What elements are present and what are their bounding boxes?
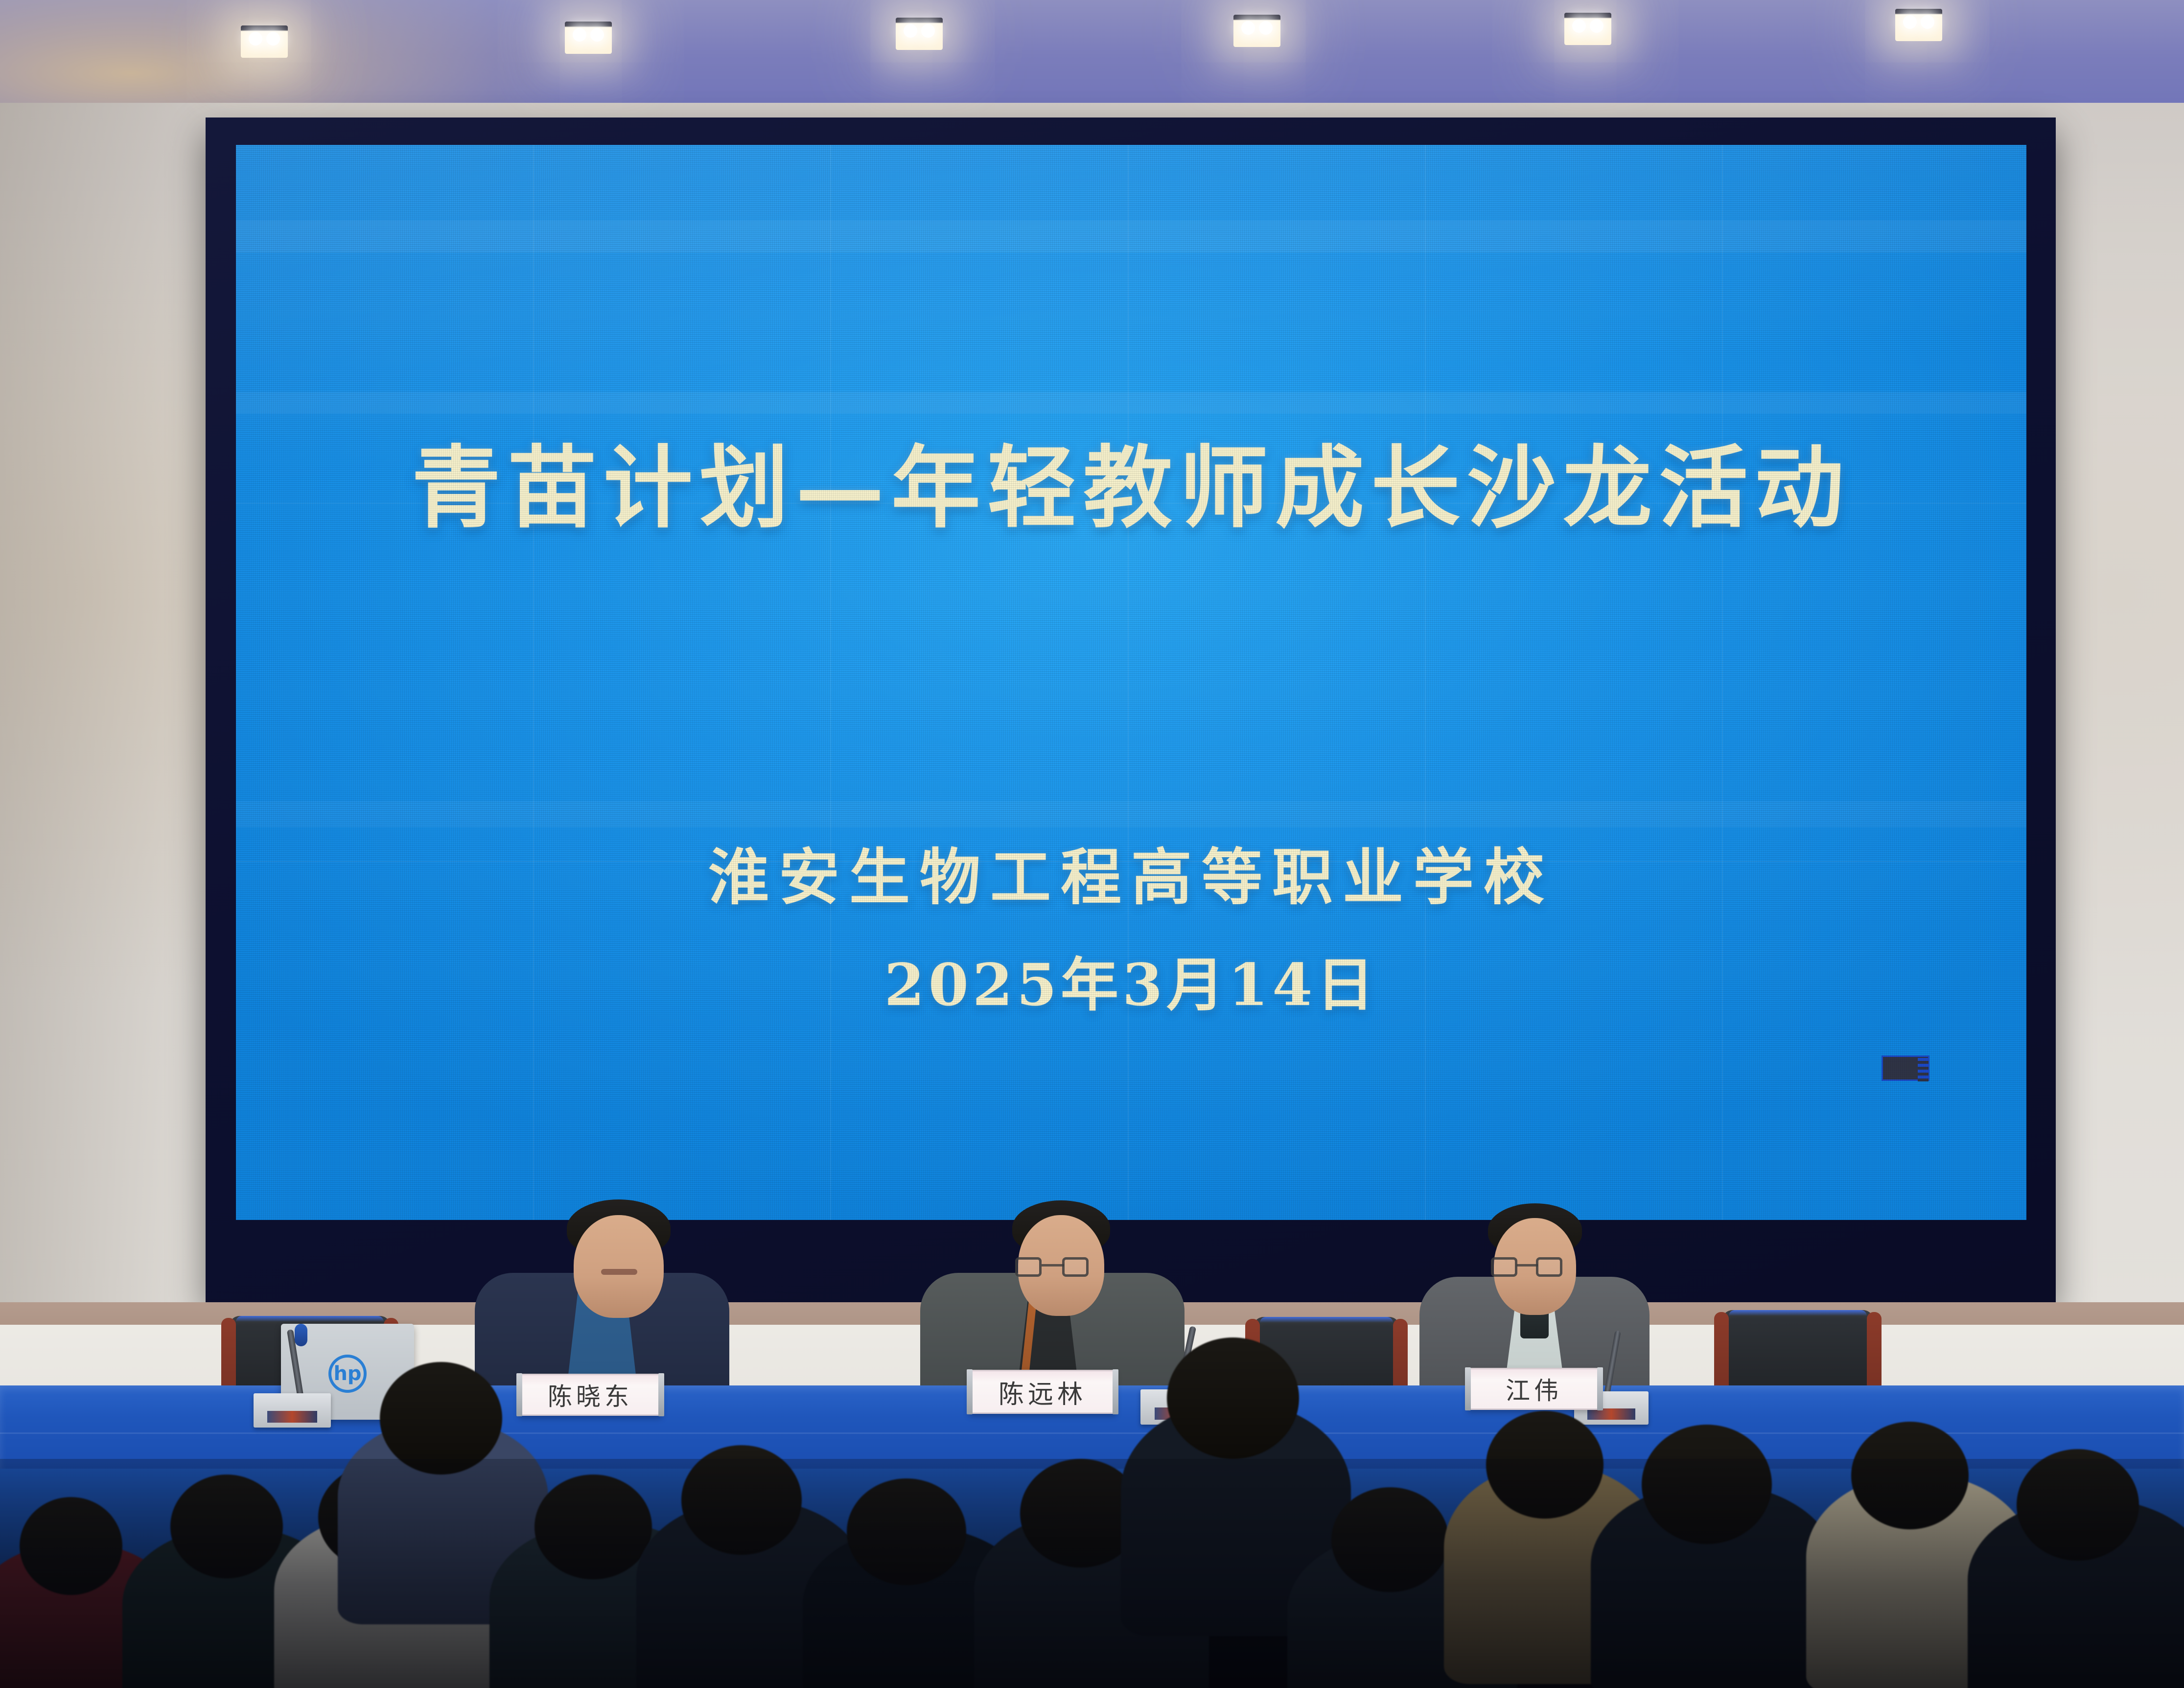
wall-shadow [0, 103, 235, 1327]
audience-member-head [1642, 1425, 1772, 1544]
hp-logo-icon: hp [328, 1355, 367, 1393]
person-1-mouth [601, 1269, 637, 1275]
audience-member-head [20, 1497, 122, 1595]
audience-member-head [1486, 1411, 1603, 1519]
audience-member-head [380, 1362, 502, 1475]
nameplate-seat-3: 江伟 [1467, 1368, 1601, 1410]
audience-member-head [534, 1475, 652, 1579]
person-1-head [574, 1215, 664, 1318]
nameplate-seat-2: 陈远林 [969, 1370, 1116, 1414]
audience-member-head [170, 1475, 283, 1578]
ceiling-spotlight-icon [241, 25, 288, 58]
audience-member-head [1851, 1422, 1969, 1529]
ceiling-spotlight-icon [1895, 9, 1942, 41]
ceiling-spotlight-icon [565, 22, 612, 54]
led-screen-bezel: 青苗计划—年轻教师成长沙龙活动 淮安生物工程高等职业学校 2025年3月14日 [206, 117, 2056, 1302]
nameplate-seat-1: 陈晓东 [519, 1374, 662, 1416]
nameplate-seat-2-text: 陈远林 [999, 1374, 1087, 1410]
led-panel-defect [1882, 1055, 1929, 1081]
ceiling-spotlight-icon [1233, 15, 1280, 47]
nameplate-seat-3-text: 江伟 [1506, 1371, 1562, 1407]
microphone-base [254, 1393, 331, 1428]
audience-member-head [1331, 1487, 1449, 1592]
led-screen-display: 青苗计划—年轻教师成长沙龙活动 淮安生物工程高等职业学校 2025年3月14日 [236, 145, 2026, 1220]
audience-member-head [681, 1445, 802, 1555]
nameplate-seat-1-text: 陈晓东 [548, 1377, 633, 1412]
ceiling-spotlight-icon [1564, 13, 1611, 45]
slide-date: 2025年3月14日 [236, 938, 2026, 1022]
slide-title: 青苗计划—年轻教师成长沙龙活动 [236, 439, 2026, 537]
ceiling-spotlight-icon [896, 18, 943, 50]
microphone-tip-icon [295, 1324, 307, 1346]
audience-member-head [847, 1478, 966, 1585]
slide-organization: 淮安生物工程高等职业学校 [236, 828, 2026, 916]
audience-member-head [2017, 1449, 2139, 1561]
person-2-glasses-icon [1013, 1266, 1111, 1267]
audience-member-head [1167, 1337, 1299, 1459]
conference-hall-photo: 青苗计划—年轻教师成长沙龙活动 淮安生物工程高等职业学校 2025年3月14日 [0, 0, 2184, 1688]
person-3-glasses-icon [1488, 1266, 1584, 1267]
